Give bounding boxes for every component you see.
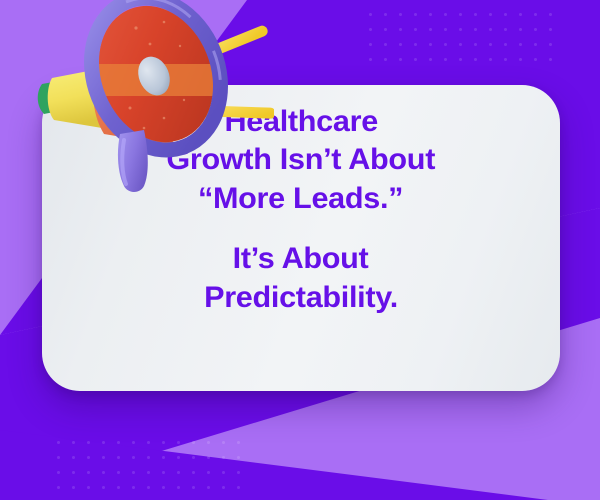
subheadline-line-1: It’s About <box>233 240 369 278</box>
subheadline-line-2: Predictability. <box>204 279 398 317</box>
headline-line-2: Growth Isn’t About <box>167 141 436 179</box>
social-post-graphic: Healthcare Growth Isn’t About “More Lead… <box>0 0 600 500</box>
headline-line-3: “More Leads.” <box>198 180 403 218</box>
headline-line-1: Healthcare <box>224 103 377 141</box>
headline-block: Healthcare Growth Isn’t About “More Lead… <box>42 85 560 391</box>
